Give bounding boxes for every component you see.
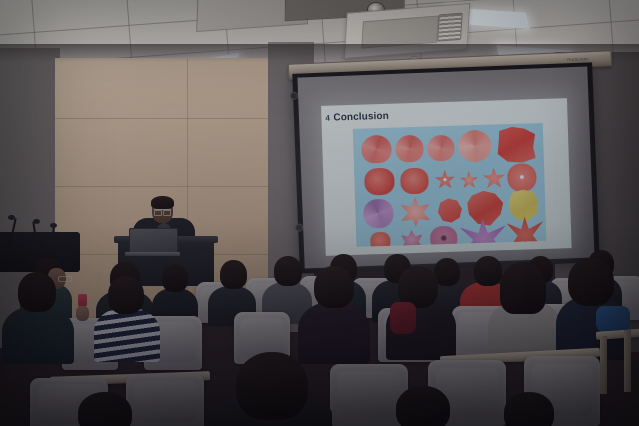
lecture-hall-photo: ProScreen 4 Conclusion xyxy=(0,0,639,426)
origami-pleated-fan-shell xyxy=(361,135,392,164)
attendee-head xyxy=(504,392,554,426)
microphone-head-icon xyxy=(33,219,40,224)
attendee-torso xyxy=(298,302,370,364)
glasses-icon xyxy=(154,209,171,214)
attendee-head xyxy=(474,256,502,286)
attendee-head xyxy=(396,386,450,426)
attendee-red-scarf xyxy=(390,302,416,334)
origami-maple-leaf-star xyxy=(506,216,545,247)
glasses-icon xyxy=(58,276,72,282)
projection-screen: 4 Conclusion xyxy=(292,62,599,273)
attendee-head xyxy=(220,260,247,289)
origami-open-bloom xyxy=(430,226,458,247)
attendee-head xyxy=(434,258,460,286)
attendee-head xyxy=(568,258,614,306)
presenter-head xyxy=(152,198,173,223)
origami-pleated-dome-rosette xyxy=(458,130,492,163)
attendee-torso xyxy=(2,306,74,364)
attendee-head xyxy=(162,264,188,292)
origami-small-star-rosette xyxy=(434,170,456,191)
slide-title: Conclusion xyxy=(333,111,389,124)
ac-vent-icon xyxy=(437,13,463,42)
presentation-slide: 4 Conclusion xyxy=(321,98,572,256)
origami-twisted-rose xyxy=(400,168,429,195)
origami-crumpled-round-bloom xyxy=(437,198,463,224)
presenter-hair xyxy=(151,196,174,209)
microphone-head-icon xyxy=(8,215,15,220)
origami-six-point-star xyxy=(482,167,506,190)
attendee-hand xyxy=(76,306,89,321)
laptop-base xyxy=(125,252,180,256)
slide-section-number: 4 xyxy=(325,114,330,123)
origami-pleated-scallop-shell xyxy=(427,135,455,162)
origami-six-point-star-flower xyxy=(399,196,432,227)
attendee-head xyxy=(78,392,132,426)
microphone-head-icon xyxy=(50,223,57,228)
attendee-head xyxy=(274,256,302,286)
seat xyxy=(126,374,204,426)
origami-six-arm-starfish xyxy=(460,218,507,247)
origami-small-twisted-rose xyxy=(370,232,391,247)
screen-surface: 4 Conclusion xyxy=(297,67,594,269)
housing-brand-label: ProScreen xyxy=(567,56,589,62)
origami-spiky-bud xyxy=(400,230,424,247)
origami-crumpled-square-block xyxy=(497,126,536,163)
attendee-head-foreground xyxy=(236,352,308,420)
attendee-head xyxy=(314,266,354,308)
origami-five-point-star xyxy=(459,171,479,190)
origami-purple-pleated-rosette xyxy=(363,199,394,229)
origami-models-photograph xyxy=(353,123,547,247)
desk-leg xyxy=(600,336,607,394)
attendee-head xyxy=(108,276,144,314)
origami-pleated-fan-shell xyxy=(395,135,424,163)
macbook-laptop xyxy=(129,228,178,255)
attendee-striped-shirt xyxy=(94,308,160,362)
origami-yellow-tulip-block xyxy=(508,189,539,223)
attendee-head xyxy=(18,272,56,312)
attendee-long-hair-head xyxy=(500,262,546,314)
origami-large-crumpled-bloom xyxy=(467,190,504,226)
origami-twisted-rose xyxy=(364,168,395,196)
desk-leg xyxy=(624,330,631,392)
origami-pinwheel-rosette xyxy=(507,163,537,192)
attendee-scarf xyxy=(596,306,630,332)
